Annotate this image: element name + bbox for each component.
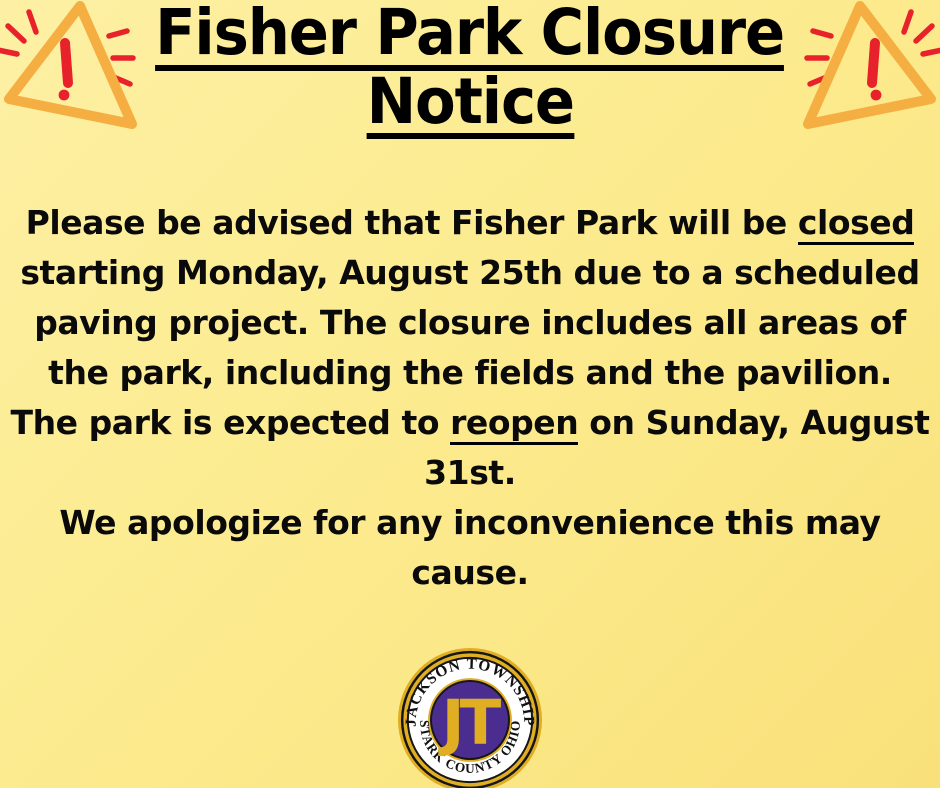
closure-notice-poster: Fisher Park Closure Notice Please be adv… — [0, 0, 940, 788]
notice-paragraph-2: The park is expected to reopen on Sunday… — [6, 398, 934, 498]
notice-paragraph-1: Please be advised that Fisher Park will … — [6, 198, 934, 398]
page-title-line-2: Notice — [118, 71, 822, 140]
paragraph-1-post: starting Monday, August 25th due to a sc… — [20, 253, 919, 392]
jackson-township-seal-logo: JACKSON TOWNSHIP STARK COUNTY OHIO JT — [396, 646, 544, 788]
page-title: Fisher Park Closure Notice — [0, 2, 940, 139]
seal-monogram: JT — [438, 688, 502, 759]
paragraph-2-pre: The park is expected to — [11, 403, 451, 442]
page-title-line-2-text: Notice — [366, 71, 573, 140]
page-title-line-1-text: Fisher Park Closure — [156, 2, 785, 71]
page-title-line-1: Fisher Park Closure — [118, 2, 822, 71]
emphasis-reopen: reopen — [450, 403, 578, 445]
notice-paragraph-3: We apologize for any inconvenience this … — [6, 498, 934, 598]
paragraph-1-pre: Please be advised that Fisher Park will … — [26, 203, 798, 242]
emphasis-closed: closed — [798, 203, 915, 245]
notice-body: Please be advised that Fisher Park will … — [0, 198, 940, 598]
